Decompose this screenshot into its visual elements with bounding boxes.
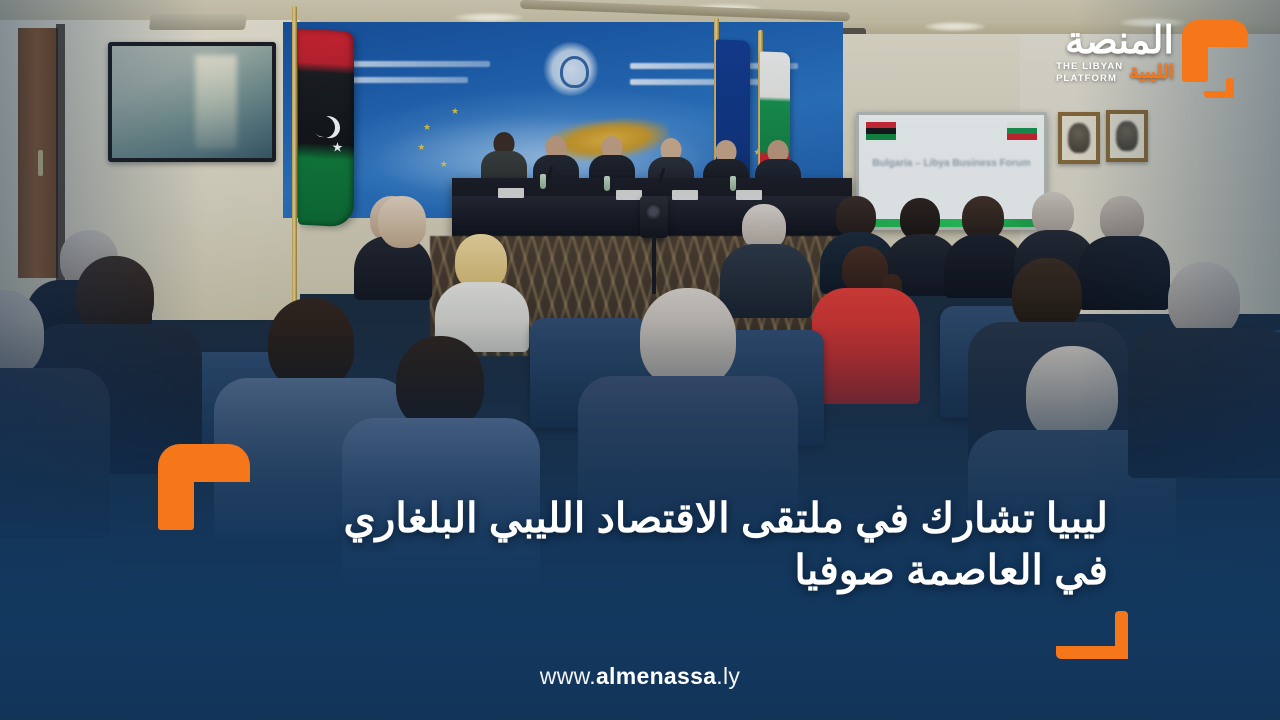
- bulgaria-flag-icon: [1007, 122, 1037, 140]
- brand-subtitle: THE LIBYAN PLATFORM الليبية: [1056, 61, 1174, 84]
- presentation-footer-bar: [859, 219, 1044, 227]
- brand-qualifier-arabic: الليبية: [1129, 63, 1174, 82]
- headline-line-1: ليبيا تشارك في ملتقى الاقتصاد الليبي الب…: [168, 492, 1108, 544]
- wall-monitor-glare: [195, 55, 237, 149]
- url-prefix: www.: [540, 663, 596, 689]
- presentation-screen: Bulgaria – Libya Business Forum: [856, 112, 1047, 230]
- tv-mount: [149, 14, 248, 30]
- brand-name-arabic: المنصة: [1065, 22, 1174, 60]
- wall-portrait: [1106, 110, 1148, 162]
- news-card: ★ Bulgaria – Libya Business Forum: [0, 0, 1280, 720]
- url-name: almenassa: [596, 663, 716, 689]
- name-plate: [672, 190, 698, 200]
- brand-english-line2: PLATFORM: [1056, 73, 1117, 84]
- star-icon: ★: [332, 140, 344, 154]
- name-plate: [498, 188, 524, 198]
- water-bottle: [540, 174, 546, 189]
- crescent-icon: [313, 116, 335, 139]
- wall-monitor: [108, 42, 276, 162]
- libya-flag-icon: [866, 122, 896, 140]
- wall-portrait: [1058, 112, 1100, 164]
- headline: ليبيا تشارك في ملتقى الاقتصاد الليبي الب…: [168, 492, 1108, 596]
- ceiling-light: [925, 22, 985, 31]
- brand-bracket-small-icon: [1204, 78, 1234, 98]
- water-bottle: [604, 176, 610, 191]
- ceiling-light: [455, 13, 523, 22]
- brand-logo[interactable]: المنصة THE LIBYAN PLATFORM الليبية: [1056, 16, 1262, 102]
- brand-mark-icon: [1180, 16, 1262, 100]
- banner-text-line: [630, 79, 776, 85]
- brand-name-english: THE LIBYAN PLATFORM: [1056, 61, 1123, 84]
- libya-flag: ★: [298, 29, 354, 228]
- url-tld: .ly: [716, 663, 740, 689]
- presentation-title: Bulgaria – Libya Business Forum: [859, 157, 1044, 171]
- orange-bracket-bottom-right-icon: [1056, 611, 1128, 659]
- tripod: [652, 236, 656, 294]
- name-plate: [616, 190, 642, 200]
- headline-line-2: في العاصمة صوفيا: [168, 544, 1108, 596]
- brand-bracket-large-icon: [1182, 20, 1248, 82]
- brand-logo-text: المنصة THE LIBYAN PLATFORM الليبية: [1056, 16, 1174, 84]
- flag-pole: [292, 6, 297, 336]
- video-camera: [640, 196, 668, 238]
- name-plate: [736, 190, 762, 200]
- wall-monitor-screen: [112, 46, 272, 158]
- website-url[interactable]: www.almenassa.ly: [0, 663, 1280, 690]
- brand-english-line1: THE LIBYAN: [1056, 61, 1123, 72]
- banner-emblem-icon: [543, 42, 599, 96]
- water-bottle: [730, 176, 736, 191]
- camera-lens-icon: [645, 203, 662, 220]
- door-handle: [38, 150, 43, 176]
